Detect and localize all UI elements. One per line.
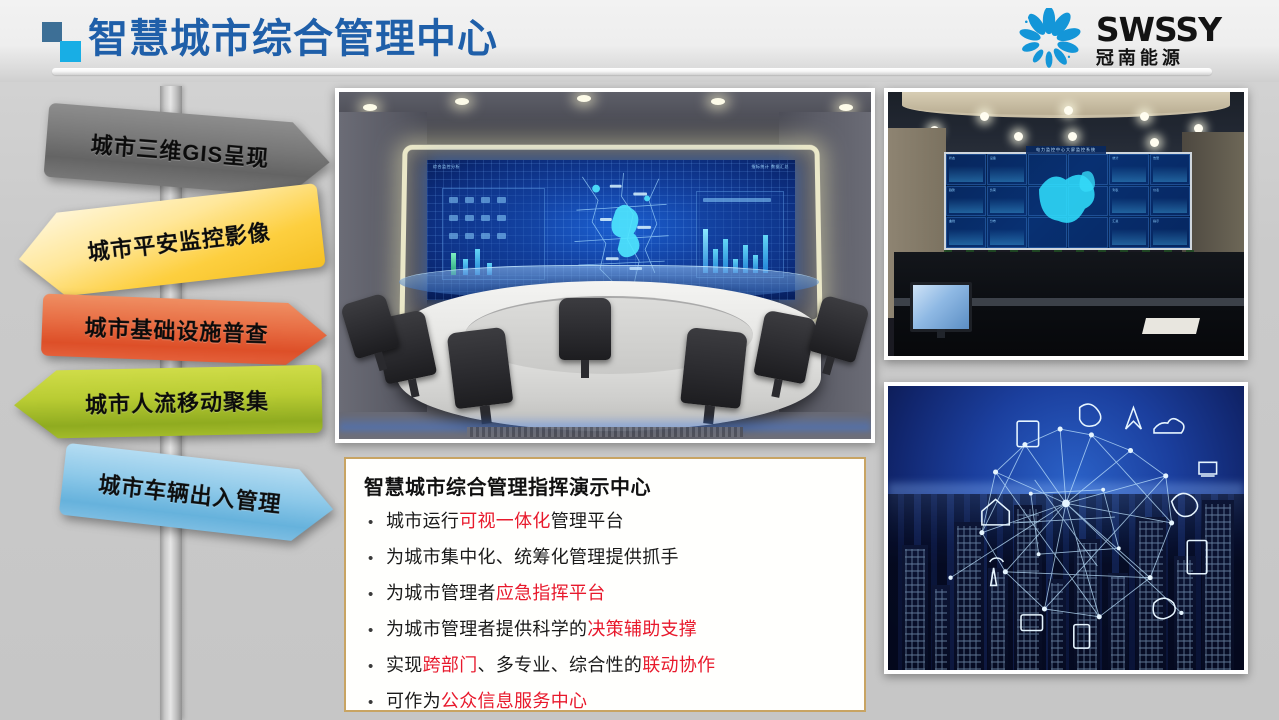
- video-wall-right-title: 指标统计 数据汇总: [751, 164, 789, 170]
- ceiling-light-icon: [577, 95, 591, 102]
- ceiling-light-icon: [455, 98, 469, 105]
- header-decoration: [42, 22, 88, 68]
- monitoring-wall-region-map: [1029, 158, 1102, 243]
- textbox-bullet-list: •城市运行可视一体化管理平台•为城市集中化、统筹化管理提供抓手•为城市管理者应急…: [364, 504, 848, 720]
- square-light-icon: [60, 41, 81, 62]
- page-title: 智慧城市综合管理中心: [88, 11, 498, 67]
- ceiling-light-icon: [1068, 132, 1077, 141]
- textbox-bullet-item: •为城市管理者应急指挥平台: [364, 576, 848, 612]
- smart-city-network-photo: [884, 382, 1248, 674]
- slide-root: 智慧城市综合管理中心: [0, 0, 1279, 720]
- monitoring-room-photo: 状态 设备 统计 告警 趋势 负荷 列表 仪表 曲线 分布 汇总 指示 电力监控…: [884, 88, 1248, 360]
- ceiling-light-icon: [711, 98, 725, 105]
- textbox-bullet-text: 为城市管理者提供科学的决策辅助支撑: [386, 612, 697, 646]
- bullet-glyph-icon: •: [364, 578, 386, 612]
- ceiling-light-icon: [1014, 132, 1023, 141]
- sign-gis[interactable]: 城市三维GIS呈现: [43, 103, 332, 200]
- monitoring-room-video-wall: 状态 设备 统计 告警 趋势 负荷 列表 仪表 曲线 分布 汇总 指示: [944, 152, 1192, 250]
- ceiling-light-icon: [1150, 138, 1159, 147]
- operator-monitor: [910, 282, 972, 332]
- video-wall-right-panel: [696, 191, 784, 278]
- description-textbox: 智慧城市综合管理指挥演示中心 •城市运行可视一体化管理平台•为城市集中化、统筹化…: [344, 457, 866, 712]
- ceiling-light-icon: [1140, 112, 1149, 121]
- control-room-chair: [559, 298, 611, 360]
- textbox-bullet-item: •实现跨部门、多专业、综合性的联动协作: [364, 648, 848, 684]
- logo-subtitle: 冠南能源: [1096, 47, 1221, 69]
- control-room-photo: 综合监控分析 指标统计 数据汇总: [335, 88, 875, 443]
- sign-people-flow[interactable]: 城市人流移动聚集: [13, 365, 322, 439]
- ceiling-light-icon: [1064, 106, 1073, 115]
- logo-text-block: SWSSY 冠南能源: [1096, 13, 1221, 69]
- textbox-bullet-text: 城市运行可视一体化管理平台: [386, 504, 624, 538]
- sign-people-flow-label: 城市人流移动聚集: [14, 383, 323, 421]
- ceiling-light-icon: [839, 104, 853, 111]
- slide-header: 智慧城市综合管理中心: [0, 0, 1279, 82]
- sign-security[interactable]: 城市平安监控影像: [14, 183, 326, 301]
- monitoring-wall-title: 电力监控中心大屏监控系统: [1026, 146, 1106, 154]
- company-logo: SWSSY 冠南能源: [1014, 6, 1221, 76]
- bullet-glyph-icon: •: [364, 650, 386, 684]
- textbox-bullet-item: •城市运行可视一体化管理平台: [364, 504, 848, 540]
- textbox-bullet-text: 为城市集中化、统筹化管理提供抓手: [386, 540, 679, 574]
- ceiling-light-icon: [980, 112, 989, 121]
- logo-wordmark: SWSSY: [1096, 13, 1221, 47]
- ceiling-light-icon: [363, 104, 377, 111]
- textbox-bullet-item: •为城市集中化、统筹化管理提供抓手: [364, 540, 848, 576]
- control-room-chair: [447, 327, 514, 410]
- sign-infrastructure[interactable]: 城市基础设施普查: [41, 294, 328, 367]
- textbox-bullet-text: 为城市管理者应急指挥平台: [386, 576, 606, 610]
- smart-city-network-graph: [888, 386, 1244, 672]
- textbox-bullet-text: 实现跨部门、多专业、综合性的联动协作: [386, 648, 715, 682]
- textbox-bullet-item: •可作为公众信息服务中心: [364, 684, 848, 720]
- bullet-glyph-icon: •: [364, 542, 386, 576]
- bullet-glyph-icon: •: [364, 614, 386, 648]
- bullet-glyph-icon: •: [364, 506, 386, 540]
- water-droplet-flower-icon: [1014, 8, 1084, 74]
- textbox-title: 智慧城市综合管理指挥演示中心: [364, 471, 848, 500]
- control-room-vent: [467, 427, 744, 437]
- control-room-chair: [680, 327, 748, 409]
- video-wall-left-title: 综合监控分析: [433, 164, 460, 170]
- textbox-bullet-text: 可作为公众信息服务中心: [386, 684, 587, 718]
- bullet-glyph-icon: •: [364, 686, 386, 720]
- square-dark-icon: [42, 22, 62, 42]
- sign-vehicle[interactable]: 城市车辆出入管理: [59, 443, 337, 545]
- desk-paper: [1142, 318, 1200, 334]
- textbox-bullet-item: •为城市管理者提供科学的决策辅助支撑: [364, 612, 848, 648]
